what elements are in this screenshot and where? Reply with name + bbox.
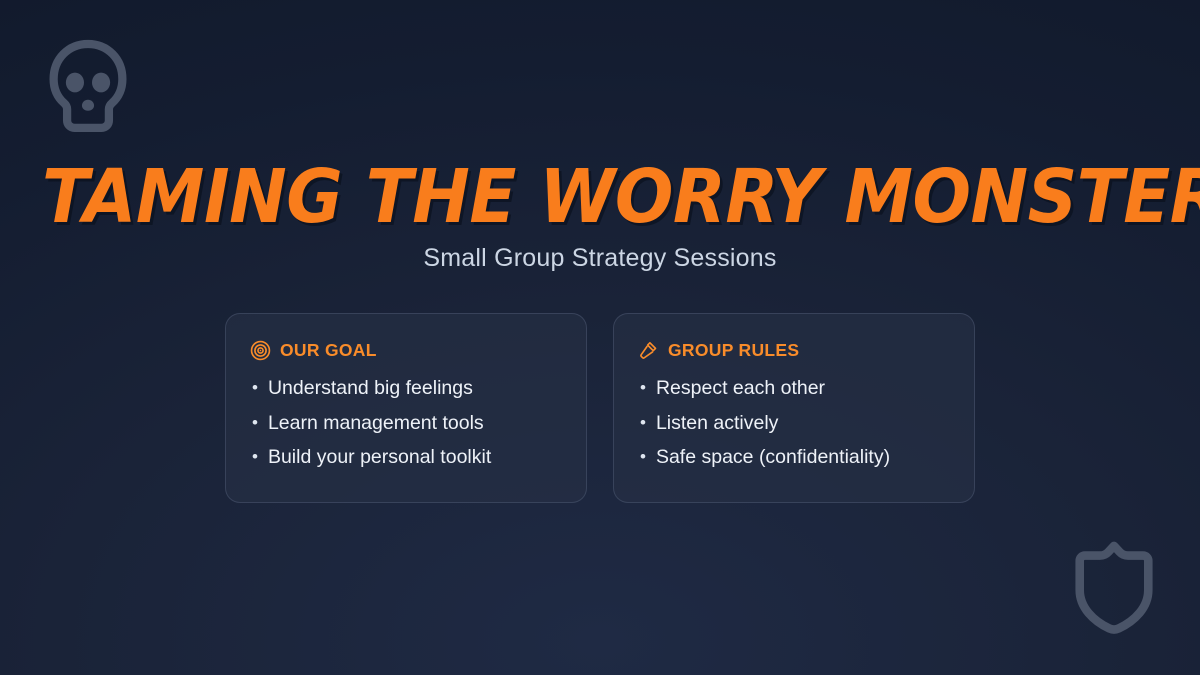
shield-icon [1068, 538, 1160, 638]
card-bullet-list: • Respect each other • Listen actively •… [638, 379, 950, 468]
list-item: • Listen actively [638, 414, 950, 449]
title-block: TAMING THE WORRY MONSTER [0, 160, 1200, 234]
list-item: • Learn management tools [250, 414, 562, 449]
list-item-label: Safe space (confidentiality) [656, 448, 890, 468]
list-item-label: Listen actively [656, 414, 778, 434]
card-bullet-list: • Understand big feelings • Learn manage… [250, 379, 562, 468]
list-item-label: Build your personal toolkit [268, 448, 491, 468]
list-item-label: Understand big feelings [268, 379, 473, 399]
list-item-label: Learn management tools [268, 414, 484, 434]
presentation-slide: TAMING THE WORRY MONSTER Small Group Str… [0, 0, 1200, 675]
card-title: OUR GOAL [280, 340, 377, 361]
skull-icon [44, 38, 132, 138]
page-subtitle: Small Group Strategy Sessions [0, 244, 1200, 273]
card-row: OUR GOAL • Understand big feelings • Lea… [225, 313, 975, 503]
list-item-label: Respect each other [656, 379, 825, 399]
card-header: OUR GOAL [250, 340, 562, 361]
target-icon [250, 340, 271, 361]
card-group-rules: GROUP RULES • Respect each other • Liste… [613, 313, 975, 503]
gavel-icon [638, 340, 659, 361]
bullet-marker: • [640, 379, 646, 396]
list-item: • Build your personal toolkit [250, 448, 562, 468]
page-title: TAMING THE WORRY MONSTER [42, 160, 1158, 234]
list-item: • Respect each other [638, 379, 950, 414]
card-header: GROUP RULES [638, 340, 950, 361]
bullet-marker: • [252, 448, 258, 465]
bullet-marker: • [640, 448, 646, 465]
card-title: GROUP RULES [668, 340, 799, 361]
bullet-marker: • [640, 414, 646, 431]
bullet-marker: • [252, 414, 258, 431]
bullet-marker: • [252, 379, 258, 396]
list-item: • Understand big feelings [250, 379, 562, 414]
card-our-goal: OUR GOAL • Understand big feelings • Lea… [225, 313, 587, 503]
list-item: • Safe space (confidentiality) [638, 448, 950, 468]
